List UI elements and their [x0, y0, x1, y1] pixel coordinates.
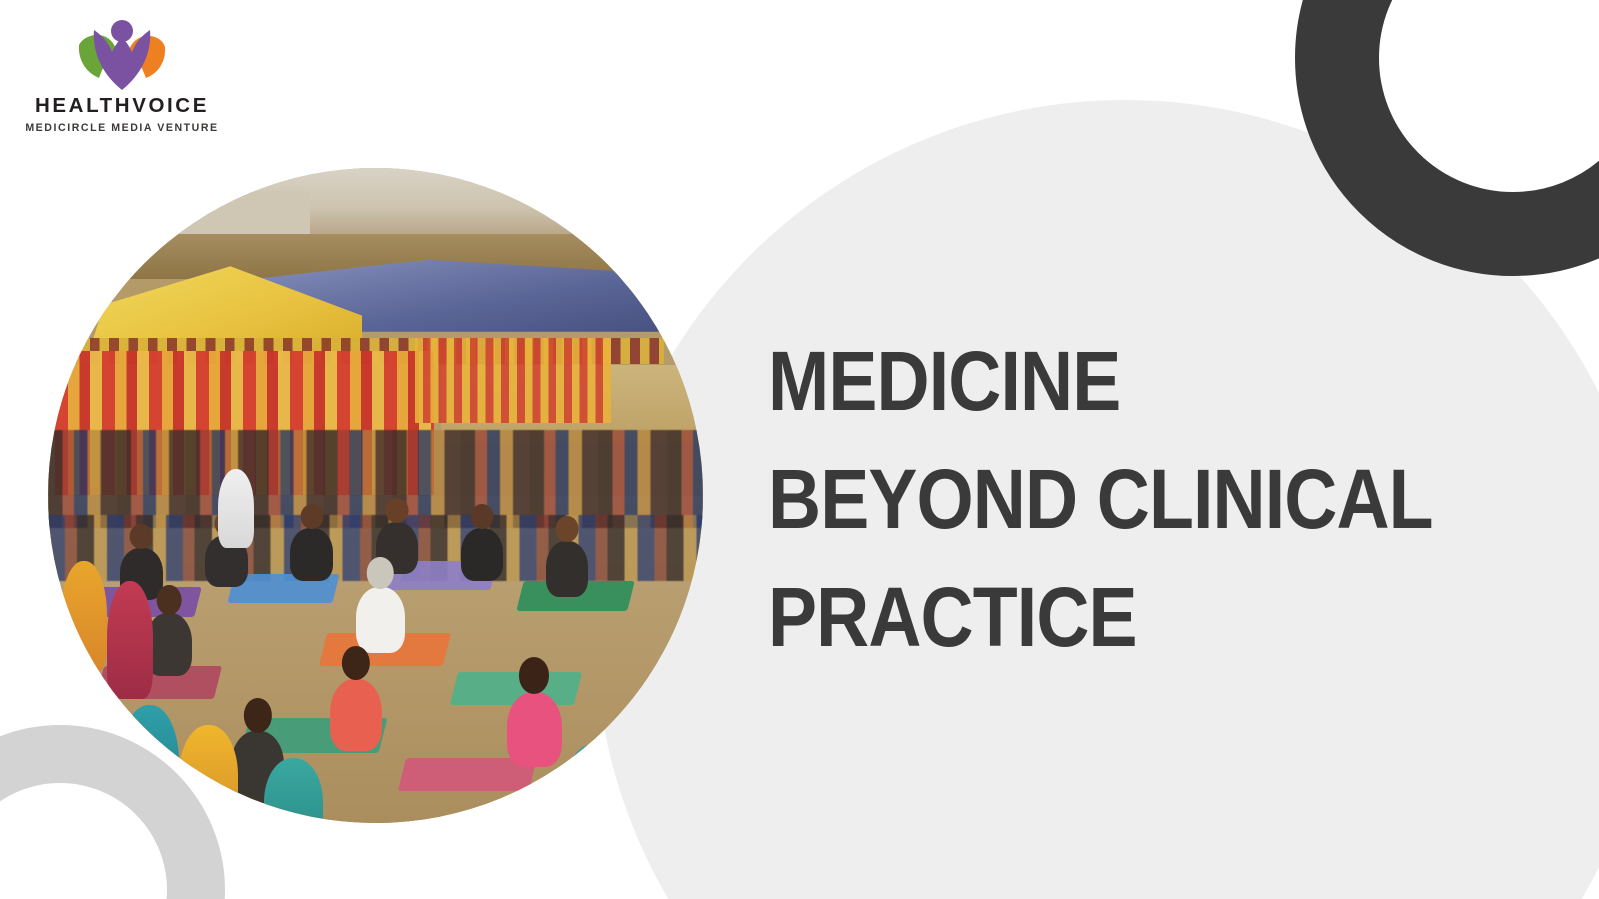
photo-participant — [146, 613, 192, 675]
photo-standing-woman-sari — [61, 679, 113, 810]
page-title: MEDICINE BEYOND CLINICAL PRACTICE — [768, 322, 1528, 676]
brand-tagline: MEDICIRCLE MEDIA VENTURE — [22, 123, 222, 134]
photo-participant-white-shirt — [356, 587, 405, 653]
banner-canvas: HEALTHVOICE MEDICIRCLE MEDIA VENTURE MED… — [0, 0, 1599, 899]
photo-participant-pink-top — [330, 679, 382, 751]
photo-village-horizon — [48, 168, 703, 240]
headline-line-3: PRACTICE — [768, 558, 1433, 676]
photo-standing-woman-sari — [179, 725, 238, 823]
photo-standing-woman-sari — [107, 581, 153, 699]
photo-participant — [461, 528, 504, 580]
headline-line-1: MEDICINE — [768, 322, 1433, 440]
hero-photo-circle — [48, 168, 703, 823]
headline-line-2: BEYOND CLINICAL — [768, 440, 1433, 558]
photo-standing-woman-sari — [218, 469, 254, 548]
photo-standing-woman-sari — [61, 561, 107, 672]
photo-participant — [290, 528, 333, 580]
photo-participant — [546, 541, 589, 597]
photo-striped-fabric-wall-right — [415, 338, 612, 423]
photo-standing-woman-sari — [120, 705, 179, 823]
brand-logo[interactable]: HEALTHVOICE MEDICIRCLE MEDIA VENTURE — [22, 18, 222, 133]
photo-crowd-row-back — [48, 430, 703, 528]
photo-participant-pink-top — [507, 692, 563, 767]
hero-photo-scene — [48, 168, 703, 823]
photo-standing-woman-sari — [565, 744, 624, 823]
three-people-group-icon — [74, 18, 170, 90]
brand-wordmark: HEALTHVOICE — [22, 96, 222, 117]
